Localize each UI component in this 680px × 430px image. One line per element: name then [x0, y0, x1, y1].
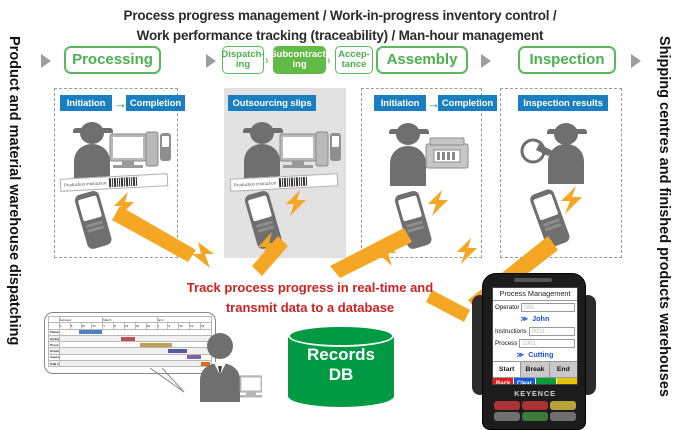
inspector-silhouette — [518, 118, 608, 184]
gantt-chart-bubble: February March April 1 8 15 22 1 8 15 22… — [44, 312, 216, 374]
gantt-row-label: Trial operation — [49, 361, 60, 367]
gantt-bar — [79, 330, 102, 334]
slip-text-1: Production instruction — [64, 180, 106, 187]
handheld-terminal[interactable]: Process Management Operator 001 ≫John In… — [472, 265, 596, 430]
chip-completion-1: Completion — [126, 95, 185, 111]
signal-bolt-7 — [558, 186, 584, 214]
right-side-label: Shipping centres and finished products w… — [656, 36, 672, 397]
break-button[interactable]: Break — [521, 362, 549, 377]
stage-acceptance[interactable]: Accep- tance — [335, 46, 373, 74]
callout-line-1: Track process progress in real-time and — [150, 278, 470, 298]
field-instructions-label: Instructions — [495, 328, 527, 335]
page-title-line-2: Work performance tracking (traceability)… — [60, 26, 620, 46]
stage-subcontracting[interactable]: Subcontract- ing — [273, 46, 326, 74]
screen-action-buttons[interactable]: Start Break End — [493, 361, 577, 377]
slip-text-2: Production instruction — [234, 180, 276, 187]
chip-initiation-2: Initiation — [374, 95, 426, 111]
fkey-clear[interactable]: Clear — [514, 378, 535, 385]
fkey-back[interactable]: Back — [493, 378, 514, 385]
flow-arrow-1 — [41, 54, 51, 68]
selected-operator-value: John — [532, 314, 549, 323]
terminal-speaker — [514, 278, 552, 282]
field-operator-label: Operator — [495, 304, 519, 311]
keypad-key[interactable] — [494, 412, 520, 421]
speech-bubble-tail — [150, 368, 190, 394]
chip-outsourcing-slips: Outsourcing slips — [228, 95, 316, 111]
handheld-terminal-icon-1 — [70, 190, 116, 252]
gantt-row-track — [59, 361, 211, 367]
mini-arrow-2: › — [327, 56, 331, 67]
db-label-line-2: DB — [288, 365, 394, 385]
stage-assembly[interactable]: Assembly — [376, 46, 468, 74]
db-label-line-1: Records — [288, 345, 394, 365]
page-title: Process progress management / Work-in-pr… — [60, 6, 620, 47]
barcode-icon-1 — [109, 177, 137, 187]
page-title-line-1: Process progress management / Work-in-pr… — [60, 6, 620, 26]
signal-bolt-1 — [112, 192, 136, 218]
keypad-key[interactable] — [550, 412, 576, 421]
keypad-key[interactable] — [550, 401, 576, 410]
gantt-bar — [140, 343, 173, 347]
records-database: Records DB — [288, 325, 394, 407]
keypad-key[interactable] — [522, 412, 548, 421]
flow-arrow-5 — [631, 54, 641, 68]
screen-title: Process Management — [493, 288, 577, 301]
selected-process: ≫Cutting — [493, 349, 577, 361]
keypad-key[interactable] — [494, 401, 520, 410]
start-button[interactable]: Start — [493, 362, 521, 377]
barcode-icon-2 — [279, 177, 307, 187]
field-process[interactable]: Process 1001 — [493, 337, 577, 349]
db-cylinder-bottom — [288, 385, 394, 407]
office-worker-silhouette — [196, 330, 262, 407]
chip-completion-2: Completion — [438, 95, 497, 111]
keypad-key[interactable] — [522, 401, 548, 410]
terminal-screen[interactable]: Process Management Operator 001 ≫John In… — [492, 287, 578, 385]
field-operator-value[interactable]: 001 — [521, 303, 575, 312]
signal-bolt-5 — [374, 240, 398, 266]
signal-bolt-3 — [256, 232, 280, 260]
field-operator[interactable]: Operator 001 — [493, 301, 577, 313]
worker-pc-silhouette-2 — [232, 120, 342, 182]
flow-arrow-2 — [206, 54, 216, 68]
db-cylinder-top — [288, 325, 394, 347]
chip-inspection-results: Inspection results — [518, 95, 608, 111]
fkey-yellow[interactable] — [557, 378, 577, 385]
signal-bolt-2 — [284, 190, 308, 216]
diagram-canvas: Process progress management / Work-in-pr… — [0, 0, 680, 430]
flow-arrow-4 — [481, 54, 491, 68]
field-instructions-value[interactable]: 0001 — [529, 327, 575, 336]
gantt-table: February March April 1 8 15 22 1 8 15 22… — [48, 316, 212, 367]
field-process-value[interactable]: 1001 — [519, 339, 575, 348]
stage-dispatching[interactable]: Dispatch- ing — [222, 46, 264, 74]
left-side-label: Product and material warehouse dispatchi… — [6, 36, 22, 345]
stage-inspection[interactable]: Inspection — [518, 46, 616, 74]
terminal-keypad[interactable] — [488, 401, 582, 425]
field-process-label: Process — [495, 340, 517, 347]
field-instructions[interactable]: Instructions 0001 — [493, 325, 577, 337]
end-button[interactable]: End — [550, 362, 577, 377]
selected-operator: ≫John — [493, 313, 577, 325]
selection-marker-2: ≫ — [517, 350, 525, 359]
worker-pc-silhouette-1 — [62, 120, 172, 182]
chip-initiation-1: Initiation — [60, 95, 112, 111]
terminal-brand: KEYENCE — [492, 389, 578, 398]
gantt-bar — [168, 349, 187, 353]
stage-processing[interactable]: Processing — [64, 46, 161, 74]
gantt-row: Trial operation — [49, 361, 212, 367]
selected-process-value: Cutting — [528, 350, 553, 359]
fkey-green[interactable] — [536, 378, 557, 385]
gantt-bar — [121, 337, 135, 341]
signal-bolt-8 — [190, 242, 216, 268]
selection-marker-1: ≫ — [521, 314, 529, 323]
mini-arrow-1: › — [265, 56, 269, 67]
db-label: Records DB — [288, 345, 394, 384]
signal-bolt-6 — [455, 238, 479, 264]
signal-bolt-4 — [426, 190, 450, 216]
screen-function-keys[interactable]: Back Clear — [493, 377, 577, 385]
worker-machine-silhouette — [378, 120, 474, 186]
